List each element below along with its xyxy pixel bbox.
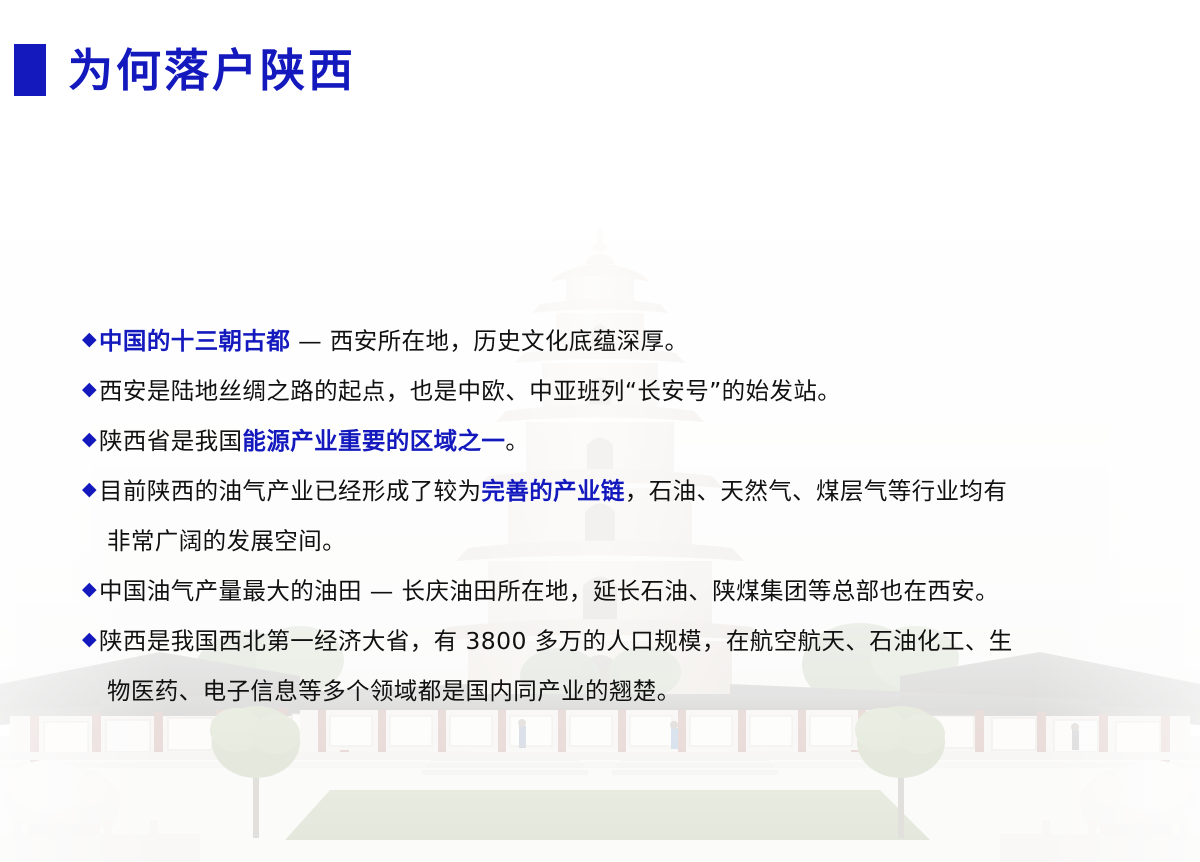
slide-root: 为何落户陕西 ◆中国的十三朝古都 — 西安所在地，历史文化底蕴深厚。◆西安是陆地… [0,0,1200,862]
title-accent-square [14,44,46,96]
bullet-text: 西安是陆地丝绸之路的起点，也是中欧、中亚班列“长安号”的始发站。 [99,372,841,406]
bullet-text: 中国油气产量最大的油田 — 长庆油田所在地，延长石油、陕煤集团等总部也在西安。 [99,572,999,606]
bullet-diamond-icon: ◆ [82,580,97,599]
bullet-line: ◆陕西省是我国能源产业重要的区域之一。 [82,414,1172,464]
bullet-diamond-icon: ◆ [82,330,97,349]
bullet-text: 。 [505,422,529,456]
bullet-diamond-icon: ◆ [82,630,97,649]
bullet-line: ◆陕西是我国西北第一经济大省，有 3800 多万的人口规模，在航空航天、石油化工… [82,614,1172,664]
bullet-text-highlight: 能源产业重要的区域之一 [242,422,505,456]
bullet-diamond-icon: ◆ [82,430,97,449]
bullet-text: 陕西省是我国 [99,422,242,456]
bullet-line: ◆西安是陆地丝绸之路的起点，也是中欧、中亚班列“长安号”的始发站。 [82,364,1172,414]
bullet-line: 物医药、电子信息等多个领域都是国内同产业的翘楚。 [82,664,1172,714]
title-text: 为何落户陕西 [68,48,356,93]
bullet-list: ◆中国的十三朝古都 — 西安所在地，历史文化底蕴深厚。◆西安是陆地丝绸之路的起点… [82,314,1172,714]
bullet-text: — 西安所在地，历史文化底蕴深厚。 [290,322,688,356]
bullet-text: 非常广阔的发展空间。 [107,522,346,556]
bullet-line: ◆中国的十三朝古都 — 西安所在地，历史文化底蕴深厚。 [82,314,1172,364]
bullet-text-highlight: 中国的十三朝古都 [99,322,290,356]
bullet-text: ，石油、天然气、煤层气等行业均有 [625,472,1007,506]
bullet-text: 目前陕西的油气产业已经形成了较为 [99,472,481,506]
bullet-diamond-icon: ◆ [82,480,97,499]
bullet-diamond-icon: ◆ [82,380,97,399]
bullet-text: 陕西是我国西北第一经济大省，有 3800 多万的人口规模，在航空航天、石油化工、… [99,622,1013,656]
bullet-text-highlight: 完善的产业链 [481,472,624,506]
bullet-text: 物医药、电子信息等多个领域都是国内同产业的翘楚。 [107,672,681,706]
bullet-line: 非常广阔的发展空间。 [82,514,1172,564]
bullet-line: ◆中国油气产量最大的油田 — 长庆油田所在地，延长石油、陕煤集团等总部也在西安。 [82,564,1172,614]
bullet-line: ◆目前陕西的油气产业已经形成了较为完善的产业链，石油、天然气、煤层气等行业均有 [82,464,1172,514]
page-title: 为何落户陕西 [14,44,356,96]
